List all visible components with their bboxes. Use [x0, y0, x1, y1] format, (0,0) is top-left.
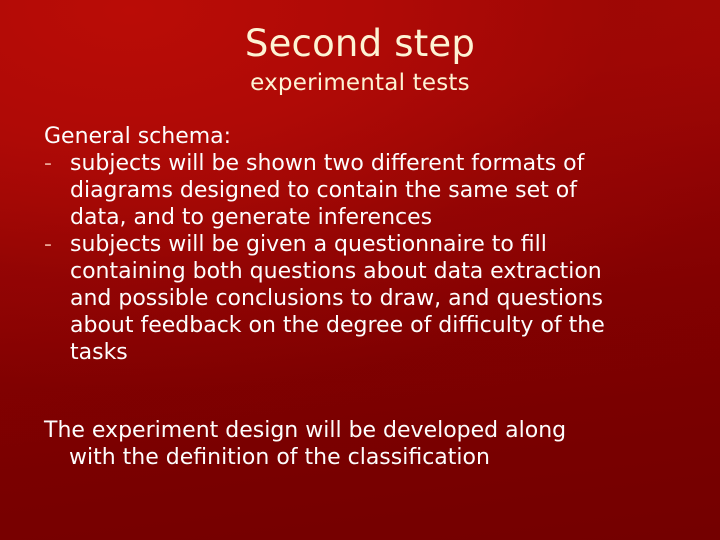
bullet-list: - subjects will be shown two different f… [42, 150, 692, 366]
closing-line-second: with the definition of the classificatio… [69, 444, 697, 471]
bullet-line: diagrams designed to contain the same se… [70, 177, 692, 204]
slide-content: Second step experimental tests General s… [0, 0, 720, 540]
bullet-line: tasks [70, 339, 692, 366]
bullet-line: data, and to generate inferences [70, 204, 692, 231]
slide-subtitle: experimental tests [0, 69, 720, 98]
closing-block: The experiment design will be developed … [42, 417, 697, 471]
dash-bullet-icon: - [44, 150, 64, 177]
bullet-line: containing both questions about data ext… [70, 258, 692, 285]
bullet-line: subjects will be given a questionnaire t… [70, 231, 692, 258]
slide-title: Second step [0, 22, 720, 66]
lead-line: General schema: [44, 123, 692, 150]
presentation-slide: Second step experimental tests General s… [0, 0, 720, 540]
list-item: - subjects will be given a questionnaire… [42, 231, 692, 366]
title-block: Second step experimental tests [0, 22, 720, 98]
dash-bullet-icon: - [44, 231, 64, 258]
body-block: General schema: - subjects will be shown… [42, 123, 692, 366]
bullet-line: subjects will be shown two different for… [70, 150, 692, 177]
bullet-line: about feedback on the degree of difficul… [70, 312, 692, 339]
closing-line-first: The experiment design will be developed … [44, 417, 697, 444]
bullet-line: and possible conclusions to draw, and qu… [70, 285, 692, 312]
list-item: - subjects will be shown two different f… [42, 150, 692, 231]
